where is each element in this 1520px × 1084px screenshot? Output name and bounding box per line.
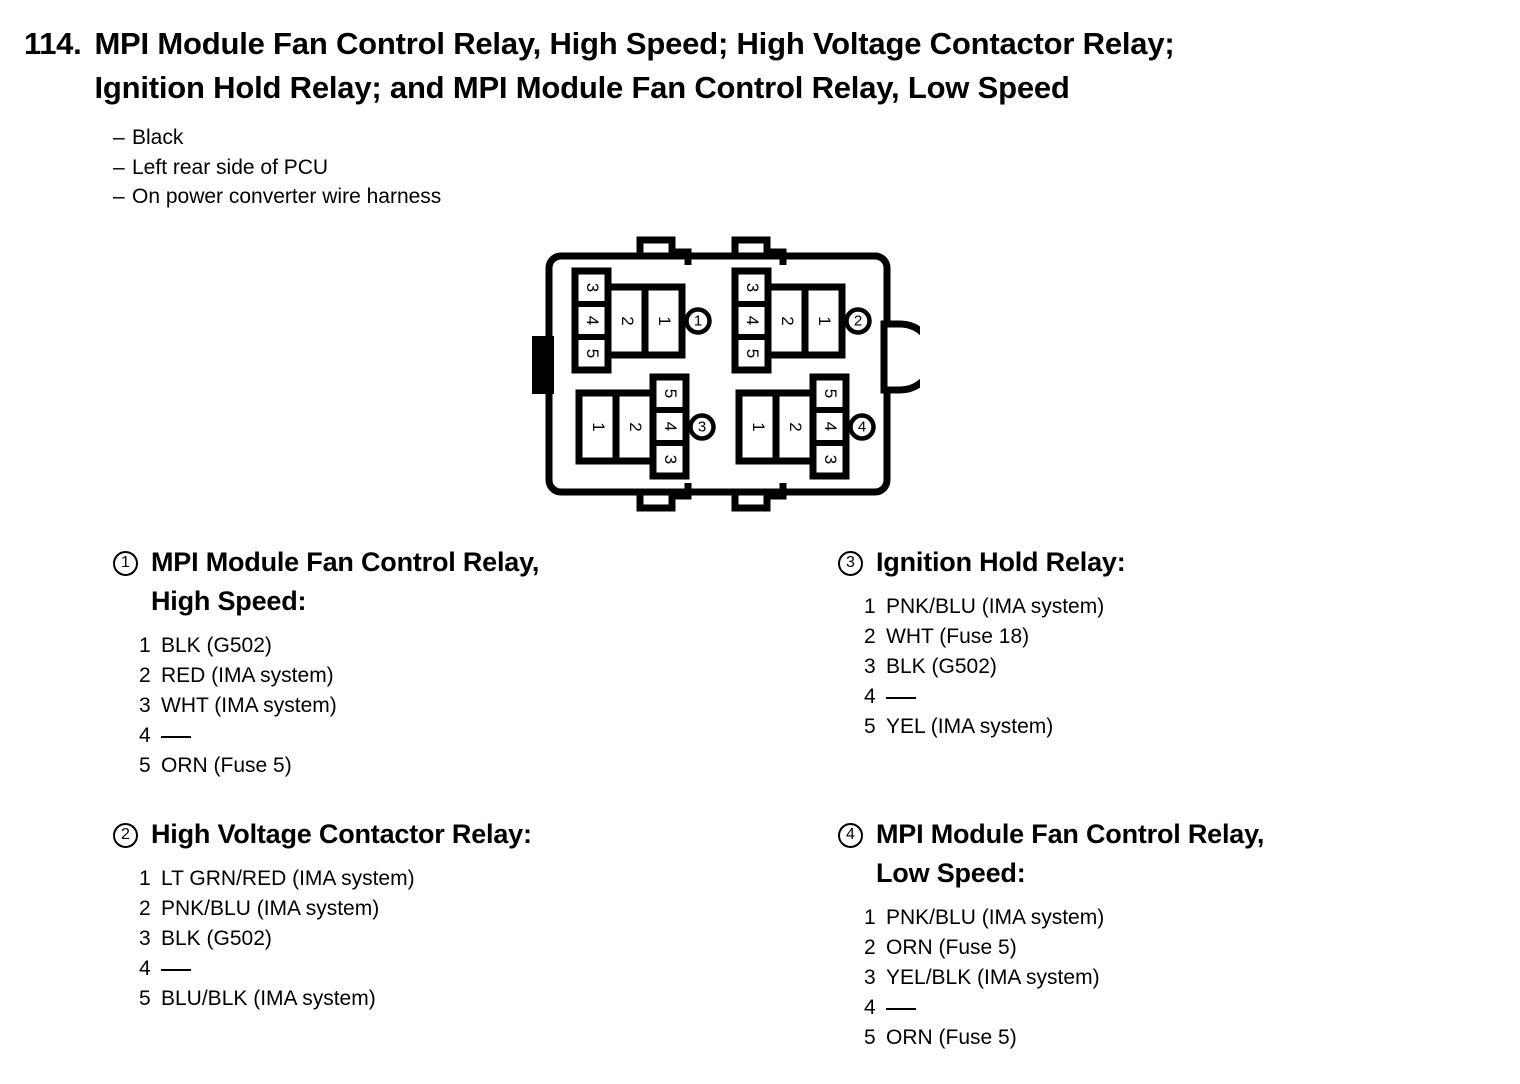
- legend-title: MPI Module Fan Control Relay, High Speed…: [151, 543, 539, 621]
- pin-label-2: 2: [786, 422, 805, 431]
- pin-row: 2 PNK/BLU (IMA system): [139, 894, 532, 924]
- pin-value: YEL (IMA system): [886, 712, 1053, 742]
- legend-title-line: MPI Module Fan Control Relay,: [151, 543, 539, 582]
- pin-number: 2: [139, 894, 161, 924]
- pin-value: PNK/BLU (IMA system): [886, 592, 1104, 622]
- legend-section-3: 3 Ignition Hold Relay: 1 PNK/BLU (IMA sy…: [838, 543, 1126, 742]
- pin-value: ORN (Fuse 5): [161, 751, 292, 781]
- legend-header: 3 Ignition Hold Relay:: [838, 543, 1126, 582]
- page-title: 114. MPI Module Fan Control Relay, High …: [24, 22, 1494, 110]
- group-marker-label-3: 3: [698, 418, 706, 435]
- pin-label-1: 1: [655, 316, 674, 325]
- pin-row: 1 LT GRN/RED (IMA system): [139, 864, 532, 894]
- connector-diagram: 3 4 5 2 1 1 3 4 5 2 1 2: [520, 232, 920, 522]
- pin-number: 2: [864, 622, 886, 652]
- legend-title-line: High Voltage Contactor Relay:: [151, 815, 532, 854]
- list-item: – Left rear side of PCU: [113, 153, 441, 183]
- pin-label-5: 5: [743, 349, 762, 358]
- pin-label-2: 2: [618, 316, 637, 325]
- pin-list: 1 LT GRN/RED (IMA system) 2 PNK/BLU (IMA…: [139, 864, 532, 1014]
- pin-list: 1 PNK/BLU (IMA system) 2 ORN (Fuse 5) 3 …: [864, 903, 1264, 1053]
- pin-value: ORN (Fuse 5): [886, 1023, 1017, 1053]
- pin-row: 5 ORN (Fuse 5): [139, 751, 539, 781]
- title-line-1: MPI Module Fan Control Relay, High Speed…: [94, 22, 1174, 66]
- pin-number: 1: [139, 864, 161, 894]
- pin-number: 4: [864, 993, 886, 1023]
- pin-row: 5 ORN (Fuse 5): [864, 1023, 1264, 1053]
- pin-label-4: 4: [583, 316, 602, 325]
- legend-header: 2 High Voltage Contactor Relay:: [113, 815, 532, 854]
- pin-label-4: 4: [661, 422, 680, 431]
- group-marker-label-1: 1: [694, 312, 702, 329]
- pin-empty-dash: [161, 969, 191, 971]
- pin-value: PNK/BLU (IMA system): [886, 903, 1104, 933]
- pin-row: 2 WHT (Fuse 18): [864, 622, 1126, 652]
- pin-number: 4: [864, 682, 886, 712]
- pin-row: 4: [139, 954, 532, 984]
- dash-marker: –: [113, 153, 132, 183]
- pin-row: 3 BLK (G502): [139, 924, 532, 954]
- legend-section-1: 1 MPI Module Fan Control Relay, High Spe…: [113, 543, 539, 781]
- pin-row: 3 BLK (G502): [864, 652, 1126, 682]
- pin-number: 1: [139, 631, 161, 661]
- legend-marker-circle: 3: [838, 551, 863, 576]
- pin-number: 5: [139, 984, 161, 1014]
- legend-title: High Voltage Contactor Relay:: [151, 815, 532, 854]
- pin-label-1: 1: [815, 316, 834, 325]
- pin-row: 5 YEL (IMA system): [864, 712, 1126, 742]
- pin-label-1: 1: [749, 422, 768, 431]
- legend-section-2: 2 High Voltage Contactor Relay: 1 LT GRN…: [113, 815, 532, 1014]
- right-side-tab: [884, 324, 920, 390]
- section-number: 114.: [24, 22, 94, 66]
- pin-label-5: 5: [583, 349, 602, 358]
- pin-value: PNK/BLU (IMA system): [161, 894, 379, 924]
- pin-value: BLK (G502): [161, 924, 272, 954]
- pin-value: LT GRN/RED (IMA system): [161, 864, 415, 894]
- pin-label-4: 4: [743, 316, 762, 325]
- pin-number: 1: [864, 592, 886, 622]
- pin-label-3: 3: [661, 455, 680, 464]
- pin-value: YEL/BLK (IMA system): [886, 963, 1100, 993]
- pin-value: WHT (Fuse 18): [886, 622, 1029, 652]
- pin-row: 1 PNK/BLU (IMA system): [864, 903, 1264, 933]
- section-title: MPI Module Fan Control Relay, High Speed…: [94, 22, 1174, 110]
- pin-empty-dash: [161, 736, 191, 738]
- pin-empty-dash: [886, 697, 916, 699]
- legend-marker-circle: 1: [113, 551, 138, 576]
- dash-marker: –: [113, 182, 132, 212]
- pin-row: 1 BLK (G502): [139, 631, 539, 661]
- pin-row: 5 BLU/BLK (IMA system): [139, 984, 532, 1014]
- legend-title-line: Ignition Hold Relay:: [876, 543, 1126, 582]
- pin-label-1: 1: [589, 422, 608, 431]
- pin-value: RED (IMA system): [161, 661, 334, 691]
- pin-label-2: 2: [626, 422, 645, 431]
- pin-list: 1 PNK/BLU (IMA system) 2 WHT (Fuse 18) 3…: [864, 592, 1126, 742]
- group-marker-label-2: 2: [854, 312, 862, 329]
- pin-row: 4: [864, 682, 1126, 712]
- legend-title: Ignition Hold Relay:: [876, 543, 1126, 582]
- legend-header: 4 MPI Module Fan Control Relay, Low Spee…: [838, 815, 1264, 893]
- pin-label-3: 3: [583, 283, 602, 292]
- pin-number: 5: [864, 712, 886, 742]
- pin-value: ORN (Fuse 5): [886, 933, 1017, 963]
- pin-number: 3: [139, 691, 161, 721]
- pin-label-5: 5: [821, 389, 840, 398]
- list-item: – On power converter wire harness: [113, 182, 441, 212]
- pin-list: 1 BLK (G502) 2 RED (IMA system) 3 WHT (I…: [139, 631, 539, 781]
- pin-number: 3: [864, 963, 886, 993]
- pin-row: 4: [864, 993, 1264, 1023]
- pin-number: 3: [864, 652, 886, 682]
- left-side-tab: [532, 336, 554, 394]
- pin-number: 4: [139, 721, 161, 751]
- pin-label-3: 3: [743, 283, 762, 292]
- title-line-2: Ignition Hold Relay; and MPI Module Fan …: [94, 66, 1174, 110]
- pin-row: 3 WHT (IMA system): [139, 691, 539, 721]
- pin-value: BLK (G502): [161, 631, 272, 661]
- pin-row: 2 RED (IMA system): [139, 661, 539, 691]
- pin-number: 2: [864, 933, 886, 963]
- pin-row: 4: [139, 721, 539, 751]
- list-item: – Black: [113, 123, 441, 153]
- group-marker-label-4: 4: [858, 418, 866, 435]
- pin-number: 1: [864, 903, 886, 933]
- legend-marker-circle: 2: [113, 823, 138, 848]
- pin-label-2: 2: [778, 316, 797, 325]
- legend-title: MPI Module Fan Control Relay, Low Speed:: [876, 815, 1264, 893]
- pin-row: 3 YEL/BLK (IMA system): [864, 963, 1264, 993]
- list-item-label: On power converter wire harness: [132, 182, 441, 212]
- pin-number: 2: [139, 661, 161, 691]
- legend-header: 1 MPI Module Fan Control Relay, High Spe…: [113, 543, 539, 621]
- legend-title-line: MPI Module Fan Control Relay,: [876, 815, 1264, 854]
- pin-value: WHT (IMA system): [161, 691, 337, 721]
- pin-empty-dash: [886, 1008, 916, 1010]
- connector-attributes-list: – Black – Left rear side of PCU – On pow…: [113, 123, 441, 212]
- pin-label-4: 4: [821, 422, 840, 431]
- pin-value: BLU/BLK (IMA system): [161, 984, 376, 1014]
- pin-number: 5: [864, 1023, 886, 1053]
- pin-number: 3: [139, 924, 161, 954]
- list-item-label: Left rear side of PCU: [132, 153, 328, 183]
- dash-marker: –: [113, 123, 132, 153]
- pin-label-5: 5: [661, 389, 680, 398]
- pin-number: 4: [139, 954, 161, 984]
- pin-value: BLK (G502): [886, 652, 997, 682]
- pin-label-3: 3: [821, 455, 840, 464]
- legend-title-line: High Speed:: [151, 582, 539, 621]
- pin-number: 5: [139, 751, 161, 781]
- pin-row: 2 ORN (Fuse 5): [864, 933, 1264, 963]
- pin-row: 1 PNK/BLU (IMA system): [864, 592, 1126, 622]
- legend-title-line: Low Speed:: [876, 854, 1264, 893]
- legend-marker-circle: 4: [838, 823, 863, 848]
- legend-section-4: 4 MPI Module Fan Control Relay, Low Spee…: [838, 815, 1264, 1053]
- list-item-label: Black: [132, 123, 183, 153]
